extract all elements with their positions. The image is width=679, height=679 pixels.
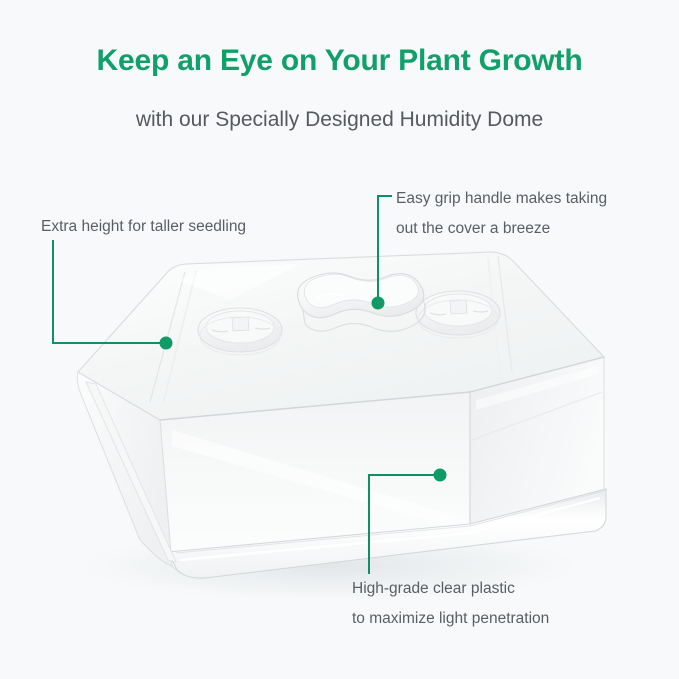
- callout-easy-grip-handle-line2: out the cover a breeze: [396, 214, 607, 244]
- callout-clear-plastic: High-grade clear plastic to maximize lig…: [352, 574, 549, 634]
- callout-clear-plastic-line1: High-grade clear plastic: [352, 574, 549, 604]
- humidity-dome-illustration: [0, 0, 679, 679]
- product-feature-graphic: Keep an Eye on Your Plant Growth with ou…: [0, 0, 679, 679]
- callout-extra-height-line1: Extra height for taller seedling: [41, 212, 246, 242]
- callout-extra-height: Extra height for taller seedling: [41, 212, 246, 242]
- callout-easy-grip-handle-line1: Easy grip handle makes taking: [396, 184, 607, 214]
- callout-easy-grip-handle: Easy grip handle makes taking out the co…: [396, 184, 607, 244]
- page-subtitle: with our Specially Designed Humidity Dom…: [0, 105, 679, 135]
- callout-clear-plastic-line2: to maximize light penetration: [352, 604, 549, 634]
- page-title: Keep an Eye on Your Plant Growth: [0, 42, 679, 80]
